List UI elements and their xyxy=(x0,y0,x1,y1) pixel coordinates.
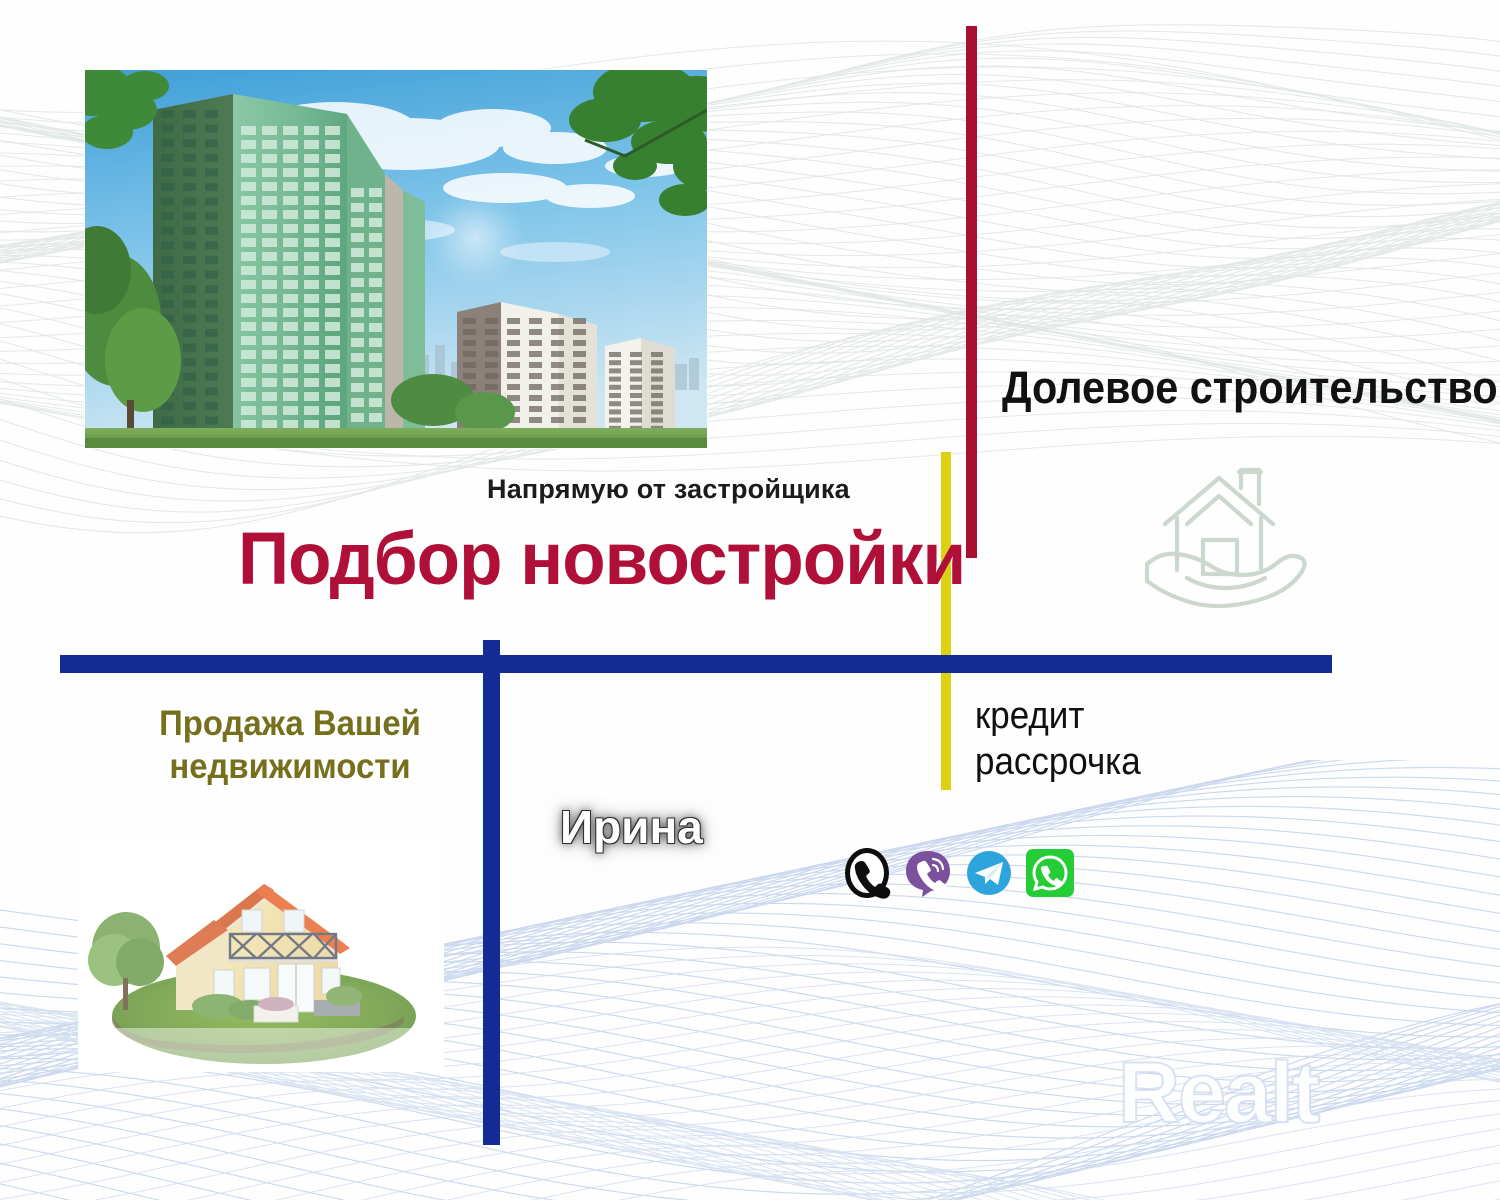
page-title: Подбор новостройки xyxy=(238,520,929,598)
blue-vertical-rule xyxy=(483,640,500,1145)
agent-name: Ирина xyxy=(560,800,760,854)
financing-line-credit: кредит xyxy=(975,693,1269,739)
selling-line-1: Продажа Вашей xyxy=(159,704,421,743)
heading-shared-construction: Долевое строительство xyxy=(1002,362,1434,414)
realt-watermark: Realt xyxy=(1118,1048,1438,1138)
viber-icon[interactable] xyxy=(901,846,955,900)
building-photo xyxy=(85,70,707,448)
cottage-photo-illustration xyxy=(78,838,444,1072)
telegram-icon[interactable] xyxy=(962,846,1016,900)
selling-line-2: недвижимости xyxy=(169,747,410,786)
financing-line-instalment: рассрочка xyxy=(975,739,1269,785)
crimson-vertical-rule xyxy=(966,26,977,558)
house-in-hand-icon xyxy=(1143,452,1318,612)
blue-horizontal-rule xyxy=(60,655,1332,673)
cottage-photo xyxy=(78,838,444,1072)
financing-options-text: кредит рассрочка xyxy=(975,693,1269,786)
contact-icons-row[interactable] xyxy=(840,845,1077,901)
subtitle-direct-from-developer: Напрямую от застройщика xyxy=(487,474,947,505)
whatsapp-icon[interactable] xyxy=(1023,846,1077,900)
phone-icon[interactable] xyxy=(840,846,894,900)
selling-your-property-text: Продажа Вашей недвижимости xyxy=(121,703,459,788)
building-photo-illustration xyxy=(85,70,707,448)
poster-canvas: Напрямую от застройщика Подбор новострой… xyxy=(0,0,1500,1200)
